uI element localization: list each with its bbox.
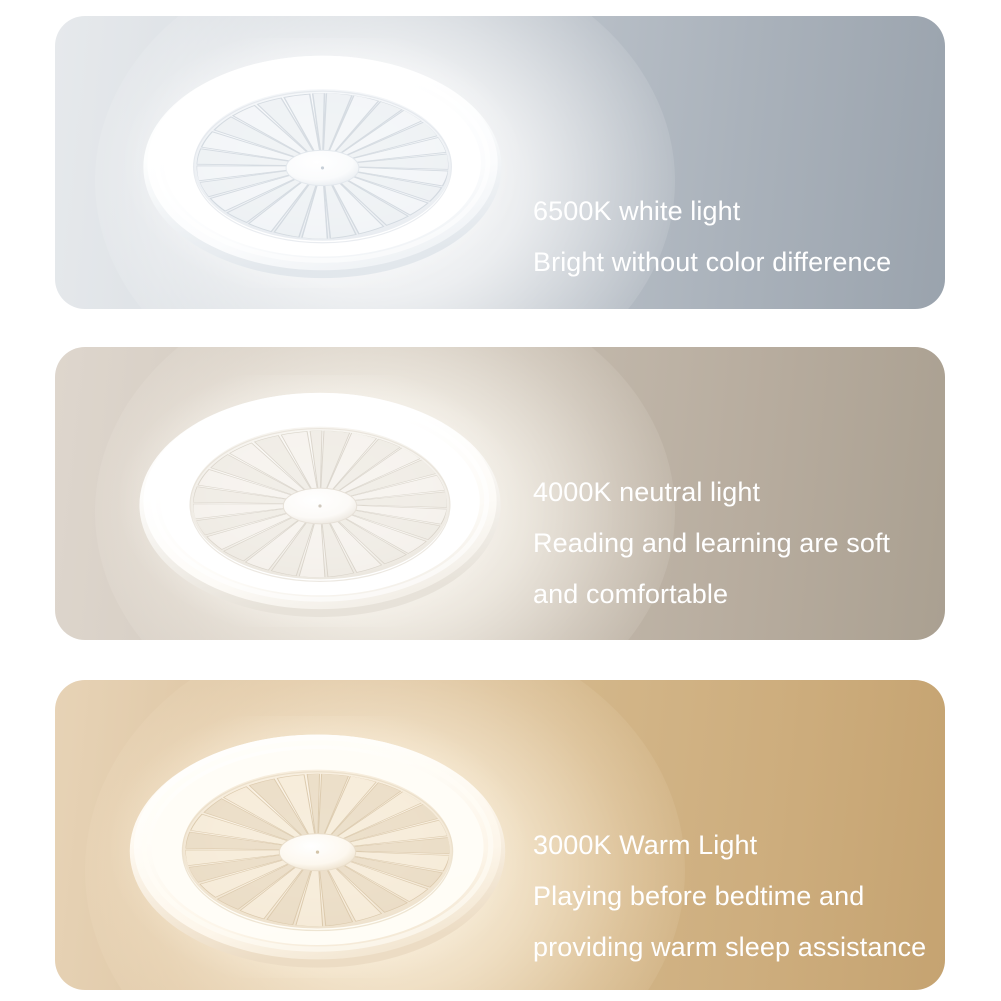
feature-heading: 6500K white light (533, 186, 891, 237)
feature-description-line: Playing before bedtime and (533, 871, 926, 922)
feature-text-3000k: 3000K Warm Light Playing before bedtime … (533, 820, 926, 973)
ceiling-fan-light-warm (110, 716, 525, 978)
feature-description-line: Reading and learning are soft (533, 518, 890, 569)
ceiling-fan-light-cool (125, 38, 520, 288)
feature-heading: 4000K neutral light (533, 467, 890, 518)
feature-panel-6500k: 6500K white light Bright without color d… (55, 16, 945, 309)
feature-description-line: and comfortable (533, 569, 890, 620)
feature-heading: 3000K Warm Light (533, 820, 926, 871)
feature-text-4000k: 4000K neutral light Reading and learning… (533, 467, 890, 620)
feature-panel-4000k: 4000K neutral light Reading and learning… (55, 347, 945, 640)
feature-description-line: Bright without color difference (533, 237, 891, 288)
feature-panel-3000k: 3000K Warm Light Playing before bedtime … (55, 680, 945, 990)
feature-description-line: providing warm sleep assistance (533, 922, 926, 973)
product-feature-page: 6500K white light Bright without color d… (0, 0, 1001, 1001)
feature-text-6500k: 6500K white light Bright without color d… (533, 186, 891, 288)
ceiling-fan-light-neutral (120, 375, 520, 627)
